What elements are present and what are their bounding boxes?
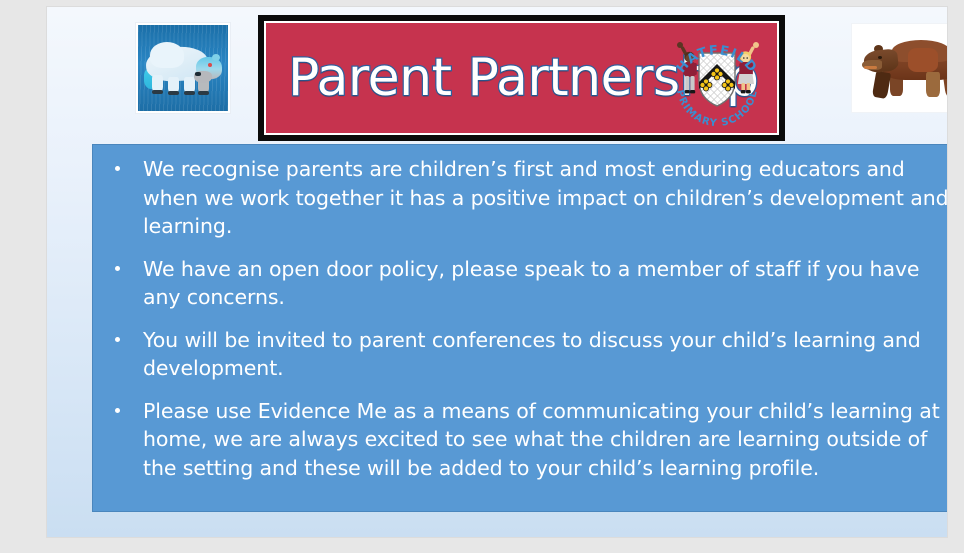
brown-bear-eye bbox=[878, 56, 882, 59]
brown-bear-leg bbox=[872, 71, 891, 99]
content-text-box: We recognise parents are children’s firs… bbox=[92, 144, 948, 512]
title-banner-inner: Parent Partnership bbox=[264, 21, 779, 135]
slide-screenshot: Parent Partnership bbox=[0, 0, 964, 553]
list-item: We have an open door policy, please spea… bbox=[103, 255, 948, 312]
list-item: We recognise parents are children’s firs… bbox=[103, 155, 948, 241]
polar-bear-image bbox=[135, 22, 231, 114]
brown-bear-saddle bbox=[908, 48, 938, 72]
slide-canvas: Parent Partnership bbox=[46, 6, 948, 538]
brown-bear-image bbox=[851, 23, 948, 113]
polar-bear-paw bbox=[184, 91, 195, 95]
polar-bear-artwork bbox=[138, 25, 228, 111]
brown-bear-leg bbox=[926, 72, 940, 97]
polar-bear-nose bbox=[195, 72, 201, 76]
list-item: You will be invited to parent conference… bbox=[103, 326, 948, 383]
polar-bear-ear bbox=[212, 54, 220, 61]
crest-shield bbox=[699, 53, 735, 106]
polar-bear-paw bbox=[152, 90, 163, 94]
title-banner: Parent Partnership bbox=[258, 15, 785, 141]
brown-bear-artwork bbox=[852, 24, 948, 112]
polar-bear-shoulder bbox=[150, 42, 184, 68]
polar-bear-eye bbox=[208, 63, 212, 67]
polar-bear-paw bbox=[168, 91, 179, 95]
list-item: Please use Evidence Me as a means of com… bbox=[103, 397, 948, 483]
brown-bear-mouth bbox=[864, 66, 877, 69]
polar-bear-paw bbox=[198, 91, 209, 95]
bullet-list: We recognise parents are children’s firs… bbox=[103, 155, 948, 482]
school-crest: HATFEILD PRIMARY SCHOOL bbox=[665, 26, 769, 130]
